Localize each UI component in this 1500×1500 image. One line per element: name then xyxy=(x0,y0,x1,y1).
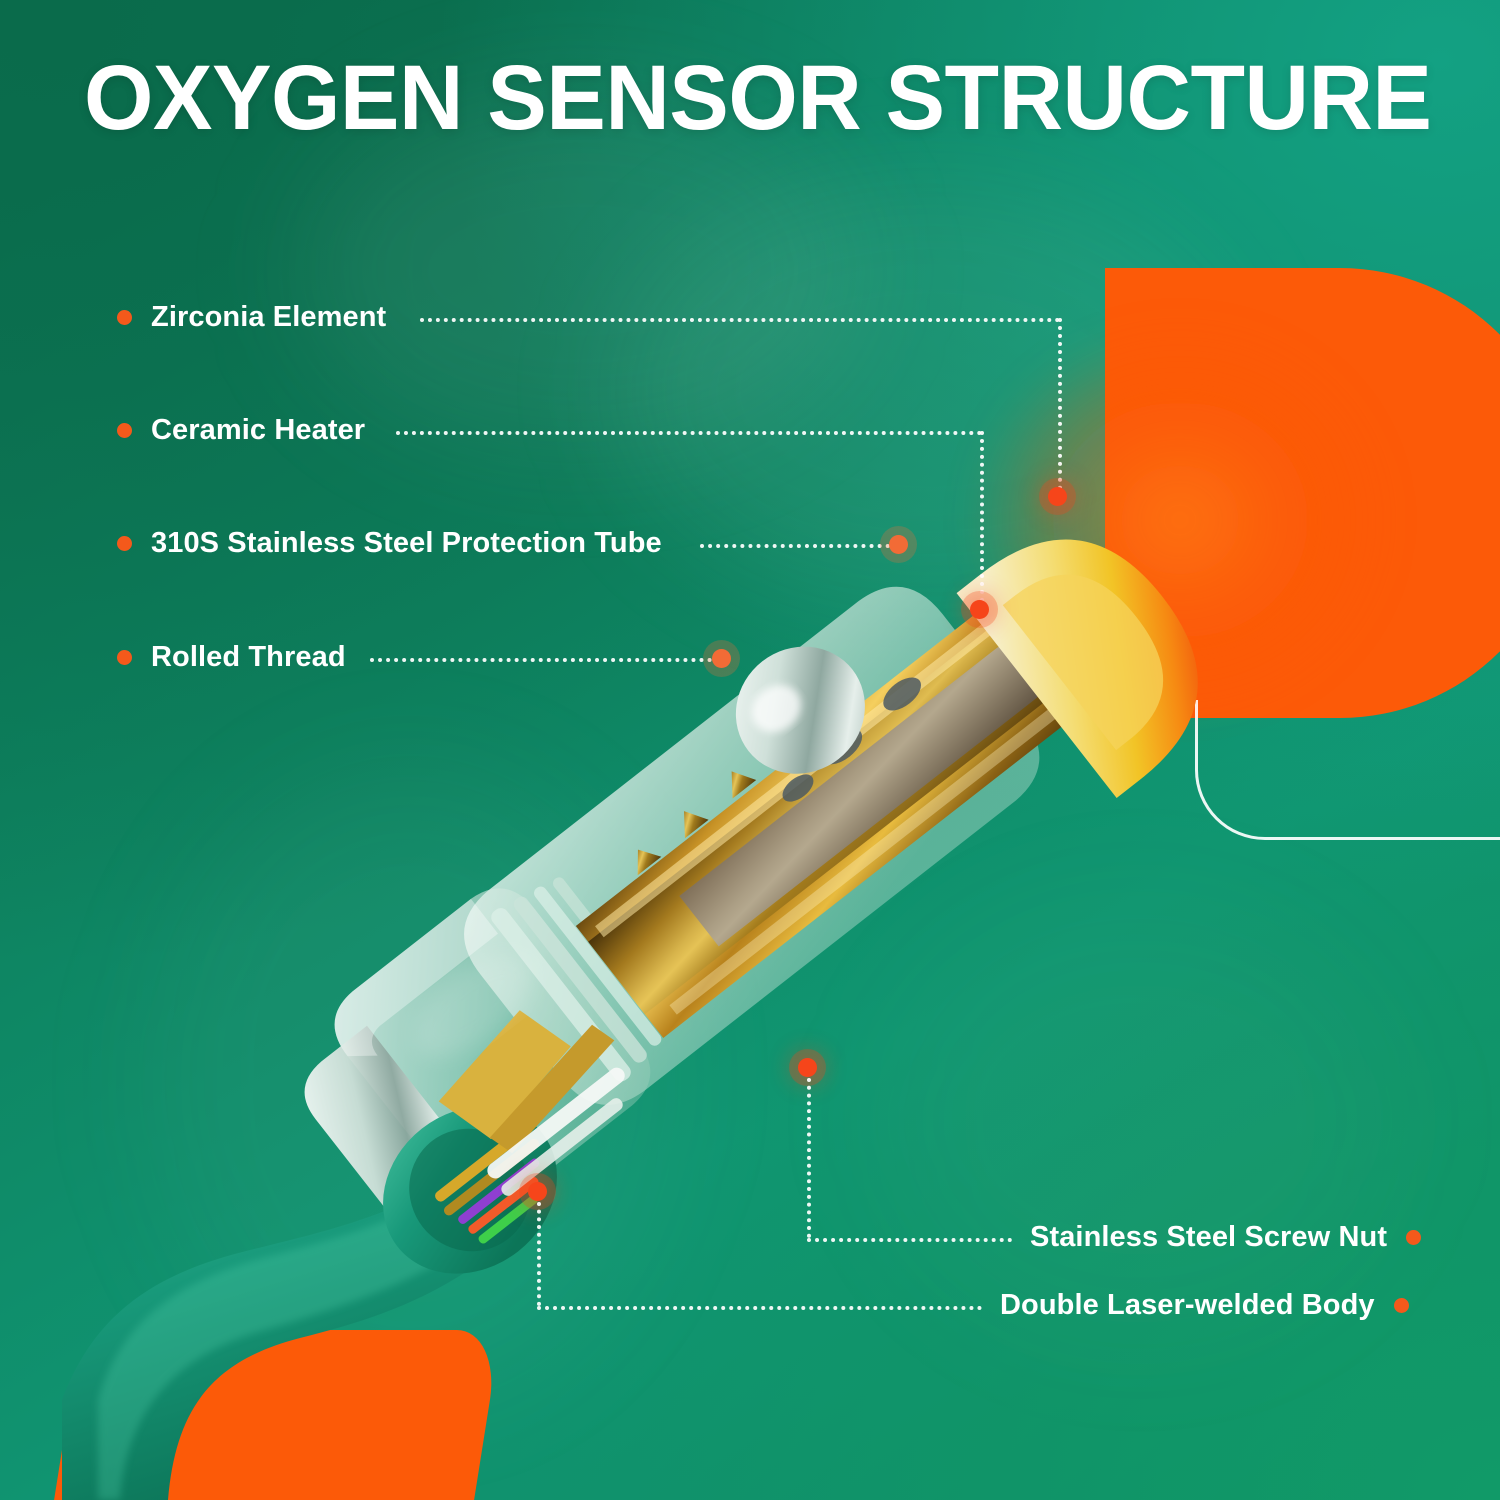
callout-label-rolled-thread[interactable]: Rolled Thread xyxy=(117,643,346,672)
leader-line-ceramic-heater-vertical xyxy=(980,431,984,610)
leader-line-laser-welded-body-horizontal xyxy=(537,1306,982,1310)
leader-line-zirconia-element-vertical xyxy=(1058,318,1062,498)
background-blob-3 xyxy=(150,760,670,1400)
leader-line-ceramic-heater-horizontal xyxy=(396,431,982,435)
anchor-dot-rolled-thread xyxy=(712,649,731,668)
leader-line-screw-nut-vertical xyxy=(807,1078,811,1238)
callout-label-laser-welded-body[interactable]: Double Laser-welded Body xyxy=(1000,1291,1409,1320)
callout-label-ceramic-heater[interactable]: Ceramic Heater xyxy=(117,416,365,445)
bullet-dot-icon xyxy=(117,310,132,325)
white-corner-accent-line xyxy=(1195,700,1500,840)
callout-text: Double Laser-welded Body xyxy=(1000,1291,1375,1320)
anchor-dot-protection-tube xyxy=(889,535,908,554)
callout-label-zirconia-element[interactable]: Zirconia Element xyxy=(117,303,386,332)
callout-text: Rolled Thread xyxy=(151,643,346,672)
bullet-dot-icon xyxy=(1394,1298,1409,1313)
bullet-dot-icon xyxy=(1406,1230,1421,1245)
orange-accent-shape-bottom xyxy=(43,1330,501,1500)
callout-text: Zirconia Element xyxy=(151,303,386,332)
anchor-dot-laser-welded-body xyxy=(528,1182,547,1201)
leader-line-screw-nut-horizontal xyxy=(807,1238,1012,1242)
bullet-dot-icon xyxy=(117,536,132,551)
anchor-dot-ceramic-heater xyxy=(970,600,989,619)
bullet-dot-icon xyxy=(117,650,132,665)
callout-label-protection-tube[interactable]: 310S Stainless Steel Protection Tube xyxy=(117,529,662,558)
background-blob-4 xyxy=(880,900,1400,1340)
leader-line-zirconia-element-horizontal xyxy=(420,318,1060,322)
leader-line-rolled-thread-horizontal xyxy=(370,658,720,662)
callout-text: Ceramic Heater xyxy=(151,416,365,445)
bullet-dot-icon xyxy=(117,423,132,438)
anchor-dot-screw-nut xyxy=(798,1058,817,1077)
infographic-canvas: OXYGEN SENSOR STRUCTURE Zirconia Element… xyxy=(0,0,1500,1500)
leader-line-protection-tube-horizontal xyxy=(700,544,898,548)
anchor-dot-zirconia-element xyxy=(1048,487,1067,506)
callout-label-screw-nut[interactable]: Stainless Steel Screw Nut xyxy=(1030,1223,1421,1252)
leader-line-laser-welded-body-vertical xyxy=(537,1202,541,1306)
callout-text: Stainless Steel Screw Nut xyxy=(1030,1223,1387,1252)
orange-accent-shape-right xyxy=(1105,268,1500,718)
callout-text: 310S Stainless Steel Protection Tube xyxy=(151,529,662,558)
page-title: OXYGEN SENSOR STRUCTURE xyxy=(84,52,1431,144)
